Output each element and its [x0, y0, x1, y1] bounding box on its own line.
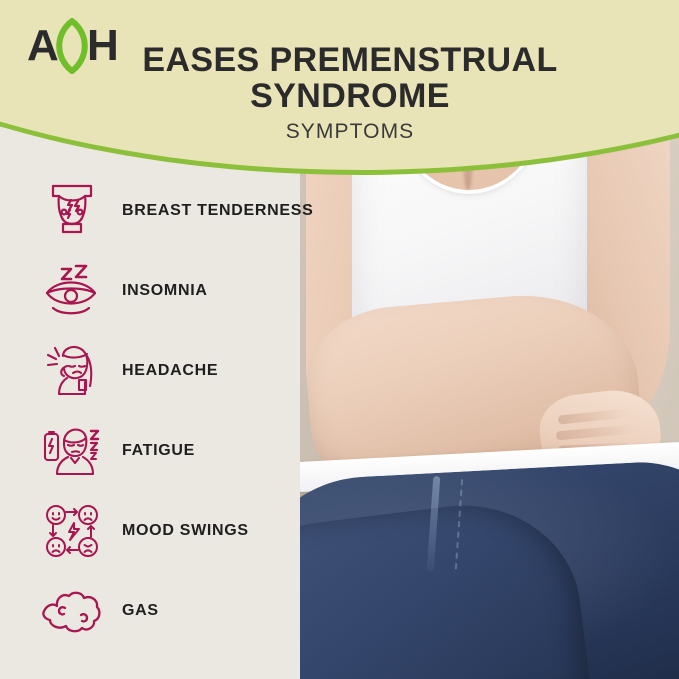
- list-item[interactable]: MOOD SWINGS: [36, 492, 356, 570]
- symptom-label: MOOD SWINGS: [122, 522, 249, 540]
- header-text-block: EASES PREMENSTRUAL SYNDROME SYMPTOMS: [120, 42, 580, 144]
- breast-tenderness-icon: [36, 177, 108, 245]
- symptom-list: BREAST TENDERNESS INSOMNIA: [36, 172, 356, 652]
- list-item[interactable]: INSOMNIA: [36, 252, 356, 330]
- svg-text:A: A: [27, 21, 59, 70]
- list-item[interactable]: HEADACHE: [36, 332, 356, 410]
- page-title-line1: EASES PREMENSTRUAL: [120, 42, 580, 78]
- symptom-label: GAS: [122, 602, 159, 620]
- insomnia-eye-zz-icon: [36, 257, 108, 325]
- symptom-label: FATIGUE: [122, 442, 195, 460]
- page-subtitle: SYMPTOMS: [120, 120, 580, 144]
- page-title-line2: SYNDROME: [120, 78, 580, 114]
- mood-swings-cycle-icon: [36, 497, 108, 565]
- list-item[interactable]: FATIGUE: [36, 412, 356, 490]
- symptom-label: HEADACHE: [122, 362, 218, 380]
- headache-icon: [36, 337, 108, 405]
- svg-text:H: H: [87, 21, 117, 70]
- fatigue-battery-icon: [36, 417, 108, 485]
- list-item[interactable]: GAS: [36, 572, 356, 650]
- leaf-mark-icon: A H: [27, 18, 117, 74]
- jeans-fly: [419, 477, 463, 569]
- symptom-label: BREAST TENDERNESS: [122, 202, 313, 220]
- symptom-label: INSOMNIA: [122, 282, 208, 300]
- list-item[interactable]: BREAST TENDERNESS: [36, 172, 356, 250]
- gas-cloud-icon: [36, 577, 108, 645]
- poster-root: A H EASES PREMENSTRUAL SYNDROME SYMPTOMS: [0, 0, 679, 679]
- brand-logo[interactable]: A H: [27, 18, 117, 74]
